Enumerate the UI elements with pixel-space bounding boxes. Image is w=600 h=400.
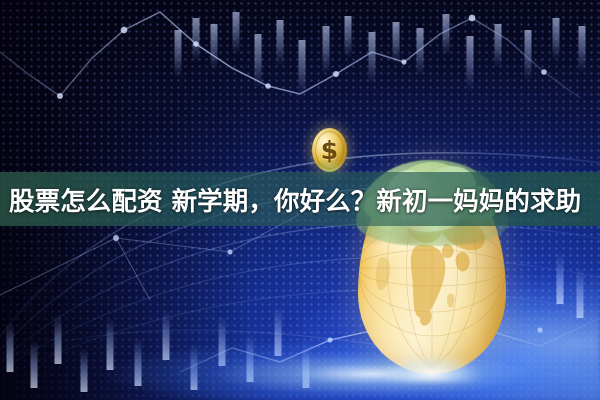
banner-image: $ 股票怎么配资 新学期，你好么？新初一妈妈的求助	[0, 0, 600, 400]
egg-base-highlight	[370, 342, 494, 382]
page-title: 股票怎么配资 新学期，你好么？新初一妈妈的求助	[9, 172, 595, 226]
dollar-coin-icon: $	[312, 128, 347, 172]
dollar-sign-glyph: $	[312, 128, 347, 172]
